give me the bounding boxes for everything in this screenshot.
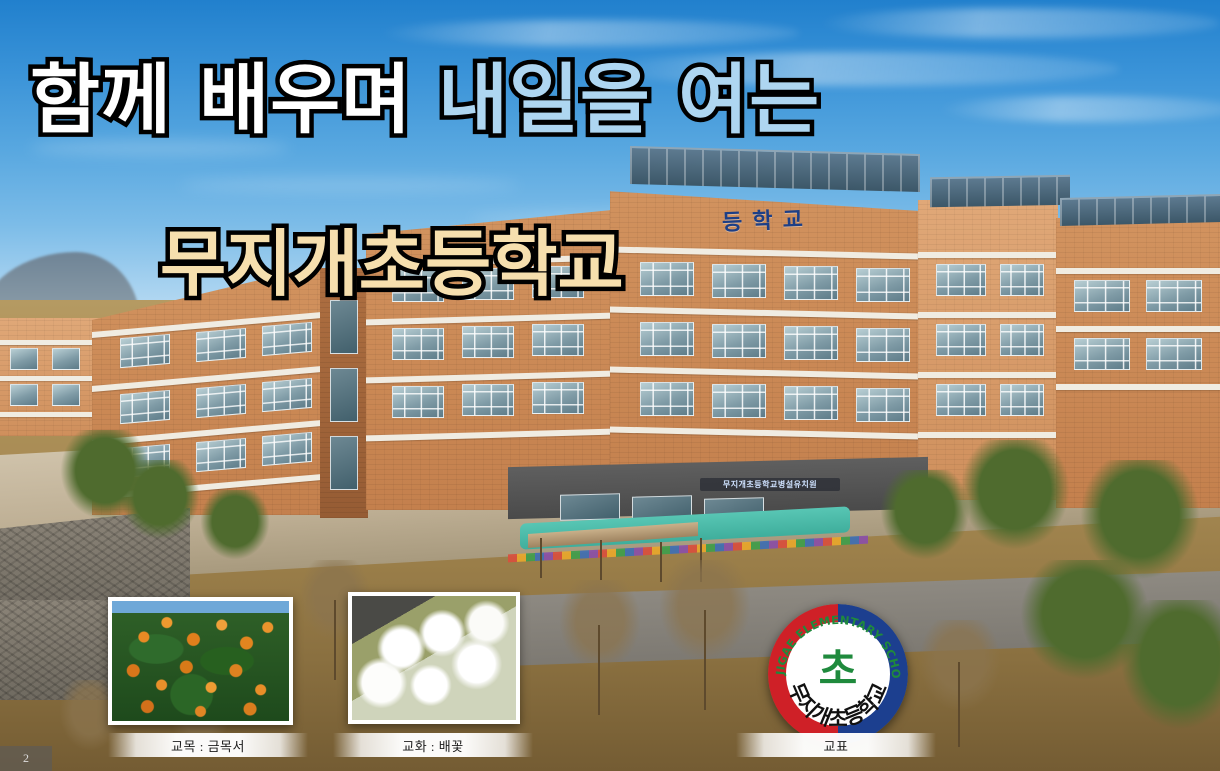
cirrus-cloud bbox=[820, 8, 1220, 38]
window bbox=[10, 384, 38, 406]
pergola-post bbox=[540, 538, 542, 578]
caption-school-emblem: 교표 bbox=[736, 733, 936, 757]
window bbox=[640, 262, 694, 296]
cirrus-cloud bbox=[380, 20, 800, 46]
stair-window bbox=[330, 368, 358, 422]
caption-school-flower: 교화 : 배꽃 bbox=[333, 733, 533, 757]
window bbox=[712, 324, 766, 358]
evergreen-tree bbox=[880, 470, 970, 560]
window bbox=[640, 322, 694, 356]
window bbox=[262, 432, 312, 466]
bare-tree bbox=[920, 620, 1000, 710]
evergreen-tree bbox=[1120, 600, 1220, 730]
window bbox=[1074, 338, 1130, 370]
pergola-post bbox=[600, 540, 602, 580]
evergreen-tree bbox=[960, 440, 1070, 550]
school-name-title: 무지개초등학교 bbox=[160, 218, 624, 310]
headline-part-2: 내일을 여는 bbox=[438, 62, 820, 138]
school-emblem: MUJIGAE ELEMENTARY SCHOOL 무지개초등학교 초 bbox=[768, 604, 908, 744]
facade-band bbox=[1056, 326, 1220, 332]
window bbox=[1000, 324, 1044, 356]
school-tree-photo bbox=[108, 597, 293, 725]
window bbox=[462, 384, 514, 416]
facade-band bbox=[918, 432, 1058, 438]
window bbox=[936, 264, 986, 296]
window bbox=[532, 324, 584, 356]
evergreen-tree bbox=[120, 460, 200, 540]
haze-cloud bbox=[180, 178, 520, 192]
window bbox=[196, 438, 246, 472]
window bbox=[712, 384, 766, 418]
tree-trunk bbox=[598, 625, 600, 715]
window bbox=[784, 386, 838, 420]
facade-band bbox=[918, 372, 1058, 378]
facade-band bbox=[918, 312, 1058, 318]
window bbox=[1146, 280, 1202, 312]
window bbox=[462, 326, 514, 358]
cirrus-cloud bbox=[940, 96, 1220, 122]
rooftop-canopy-right bbox=[930, 175, 1070, 207]
rooftop-canopy-far-right bbox=[1060, 194, 1220, 226]
headline: 함께 배우며 내일을 여는 bbox=[30, 50, 930, 150]
window bbox=[262, 378, 312, 412]
window bbox=[10, 348, 38, 370]
window bbox=[120, 390, 170, 424]
caption-school-tree: 교목 : 금목서 bbox=[108, 733, 308, 757]
window bbox=[936, 324, 986, 356]
facade-band bbox=[1056, 268, 1220, 274]
window bbox=[1000, 264, 1044, 296]
window bbox=[392, 328, 444, 360]
tree-trunk bbox=[704, 610, 706, 710]
entrance-sign: 무지개초등학교병설유치원 bbox=[700, 478, 840, 491]
emblem-center-glyph: 초 bbox=[819, 649, 858, 691]
bare-tree bbox=[560, 580, 640, 670]
window bbox=[196, 328, 246, 362]
facade-band bbox=[918, 252, 1058, 258]
window bbox=[52, 384, 80, 406]
window bbox=[856, 268, 910, 302]
window bbox=[1000, 384, 1044, 416]
window bbox=[784, 266, 838, 300]
window bbox=[640, 382, 694, 416]
stair-window bbox=[330, 436, 358, 490]
window bbox=[856, 388, 910, 422]
window bbox=[1146, 338, 1202, 370]
tree-trunk bbox=[958, 662, 960, 747]
window bbox=[392, 386, 444, 418]
entrance-glass bbox=[560, 493, 620, 520]
window bbox=[856, 328, 910, 362]
school-promo-slide: 등학교 무지개초등학교병설유치원 bbox=[0, 0, 1220, 771]
window bbox=[532, 382, 584, 414]
window bbox=[1074, 280, 1130, 312]
facade-band bbox=[1056, 384, 1220, 390]
rooftop-canopy bbox=[630, 146, 920, 192]
evergreen-tree bbox=[200, 490, 270, 560]
window bbox=[936, 384, 986, 416]
window bbox=[120, 334, 170, 368]
school-flower-photo bbox=[348, 592, 520, 724]
slide-number: 2 bbox=[0, 746, 52, 771]
rooftop-school-sign: 등학교 bbox=[721, 201, 813, 237]
window bbox=[262, 322, 312, 356]
window bbox=[196, 384, 246, 418]
tree-trunk bbox=[334, 600, 336, 680]
window bbox=[784, 326, 838, 360]
window bbox=[52, 348, 80, 370]
headline-part-1: 함께 배우며 bbox=[30, 62, 412, 138]
window bbox=[712, 264, 766, 298]
